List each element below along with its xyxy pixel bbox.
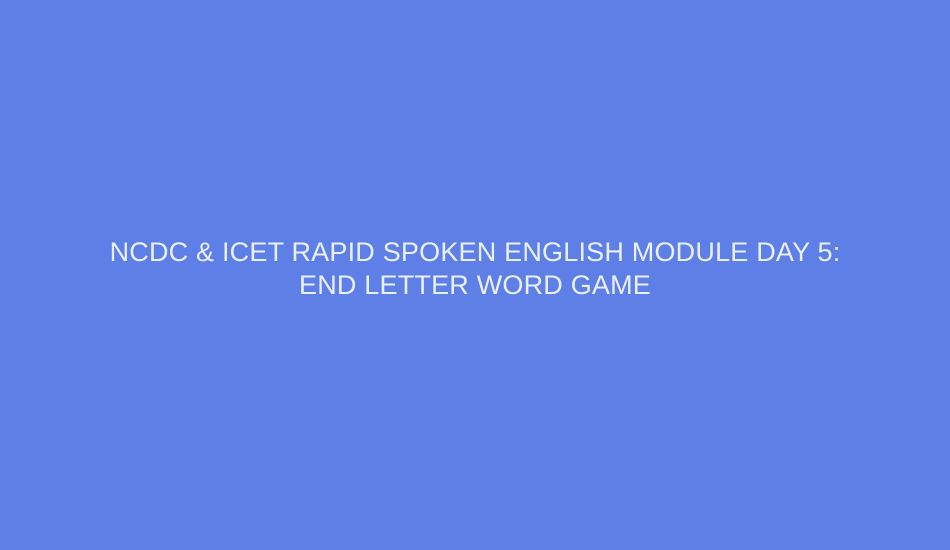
page-title-line-1: NCDC & ICET RAPID SPOKEN ENGLISH MODULE … [95, 236, 855, 269]
page-title-line-2: END LETTER WORD GAME [95, 269, 855, 302]
page-title: NCDC & ICET RAPID SPOKEN ENGLISH MODULE … [95, 236, 855, 302]
featured-image-card: NCDC & ICET RAPID SPOKEN ENGLISH MODULE … [0, 0, 950, 550]
title-block: NCDC & ICET RAPID SPOKEN ENGLISH MODULE … [0, 0, 950, 550]
